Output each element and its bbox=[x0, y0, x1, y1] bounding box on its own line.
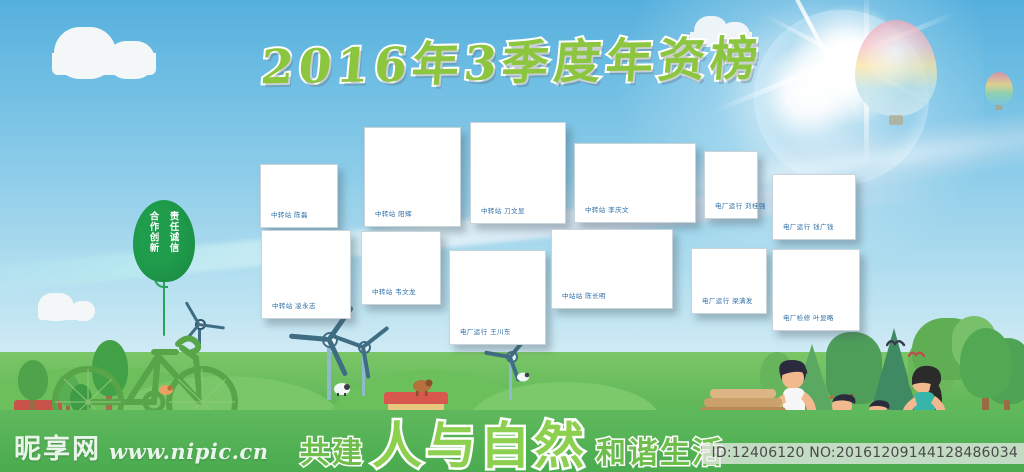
farm-animal bbox=[412, 378, 434, 400]
page-title-text: 2016年3季度年资榜 bbox=[258, 20, 765, 98]
bottom-slogan-pre: 共建 bbox=[300, 436, 364, 471]
watermark-url: www.nipic.cn bbox=[109, 439, 269, 466]
photo-frame-caption: 中转站 陈磊 bbox=[271, 212, 308, 220]
photo-frame-caption: 中转站 李庆文 bbox=[585, 207, 629, 215]
poster-canvas: 合作创新 责任诚信 中转站 陈磊中转站 阳辉中转站 刀文显中转站 李庆文电厂运行… bbox=[0, 0, 1024, 472]
photo-frame-caption: 中转站 韦文龙 bbox=[372, 289, 416, 297]
photo-frame[interactable]: 电厂检修 叶显略 bbox=[772, 249, 860, 331]
slogan-balloon: 合作创新 责任诚信 bbox=[133, 200, 195, 282]
photo-frame[interactable]: 电厂运行 刘桂强 bbox=[704, 151, 758, 219]
photo-frame-caption: 电厂运行 王川东 bbox=[460, 329, 511, 337]
photo-frame[interactable]: 中转站 陈磊 bbox=[260, 164, 338, 228]
photo-frame[interactable]: 中站站 陈长明 bbox=[551, 229, 673, 309]
photo-frame-caption: 中转站 阳辉 bbox=[375, 211, 412, 219]
photo-frame-caption: 电厂运行 钱广钱 bbox=[783, 224, 834, 232]
image-id-bar: ID:12406120 NO:20161209144128486034 bbox=[702, 443, 1024, 464]
photo-frame[interactable]: 中转站 凌永志 bbox=[261, 230, 351, 319]
farm-animal bbox=[516, 367, 530, 386]
photo-frame[interactable]: 电厂运行 王川东 bbox=[449, 250, 546, 345]
farm-animal bbox=[333, 381, 351, 400]
photo-frame-caption: 电厂运行 刘桂强 bbox=[715, 203, 766, 211]
farm-animal bbox=[158, 381, 174, 400]
photo-frame[interactable]: 中转站 阳辉 bbox=[364, 127, 461, 227]
watermark: 昵享网 www.nipic.cn bbox=[14, 427, 269, 466]
photo-frame-caption: 中转站 刀文显 bbox=[481, 208, 525, 216]
balloon-string bbox=[163, 280, 165, 336]
bottom-slogan-main: 人与自然 bbox=[372, 416, 588, 472]
photo-frame[interactable]: 电厂运行 梁满发 bbox=[691, 248, 767, 314]
slogan-column-right: 责任诚信 bbox=[166, 211, 180, 253]
photo-frame[interactable]: 电厂运行 钱广钱 bbox=[772, 174, 856, 240]
bird-icon bbox=[886, 333, 906, 352]
photo-frame-caption: 中站站 陈长明 bbox=[562, 293, 606, 301]
photo-frame[interactable]: 中转站 刀文显 bbox=[470, 122, 566, 224]
slogan-column-left: 合作创新 bbox=[146, 211, 160, 253]
watermark-site-name: 昵享网 bbox=[14, 427, 101, 466]
photo-frame-caption: 中转站 凌永志 bbox=[272, 303, 316, 311]
photo-frame[interactable]: 中转站 韦文龙 bbox=[361, 231, 441, 305]
photo-frame-caption: 电厂检修 叶显略 bbox=[783, 315, 834, 323]
photo-frame[interactable]: 中转站 李庆文 bbox=[574, 143, 696, 223]
photo-frame-caption: 电厂运行 梁满发 bbox=[702, 298, 753, 306]
